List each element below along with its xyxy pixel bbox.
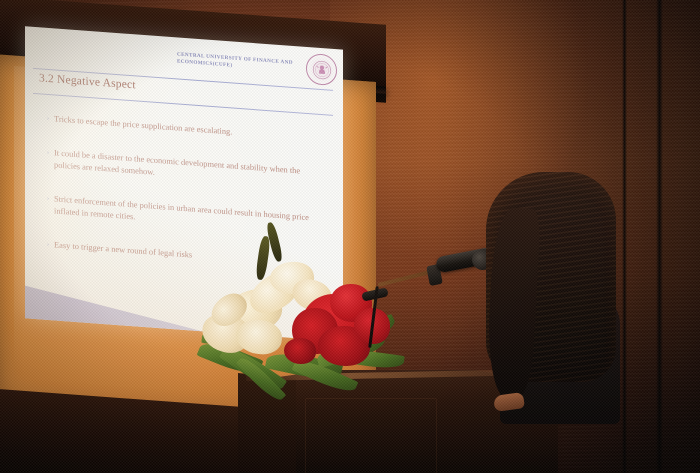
chevron-bullet-icon: › bbox=[47, 113, 49, 126]
floral-arrangement bbox=[196, 256, 416, 416]
presentation-photo-scene: CENTRAL UNIVERSITY OF FINANCE AND ECONOM… bbox=[0, 0, 700, 473]
bullet-text: It could be a disaster to the economic d… bbox=[54, 147, 323, 192]
list-item: › It could be a disaster to the economic… bbox=[47, 147, 323, 192]
wall-panel-seam bbox=[656, 0, 663, 473]
bullet-text: Tricks to escape the price supplication … bbox=[54, 113, 323, 146]
organization-name: CENTRAL UNIVERSITY OF FINANCE AND ECONOM… bbox=[177, 51, 309, 76]
presenter-at-podium bbox=[476, 172, 646, 422]
university-seal-logo bbox=[306, 53, 337, 86]
title-rule-bottom bbox=[33, 93, 333, 116]
chevron-bullet-icon: › bbox=[47, 193, 49, 218]
list-item: › Strict enforcement of the policies in … bbox=[47, 193, 323, 238]
bullet-text: Strict enforcement of the policies in ur… bbox=[54, 193, 323, 238]
list-item: › Tricks to escape the price supplicatio… bbox=[47, 113, 323, 146]
chevron-bullet-icon: › bbox=[47, 147, 49, 172]
chevron-bullet-icon: › bbox=[47, 239, 49, 252]
